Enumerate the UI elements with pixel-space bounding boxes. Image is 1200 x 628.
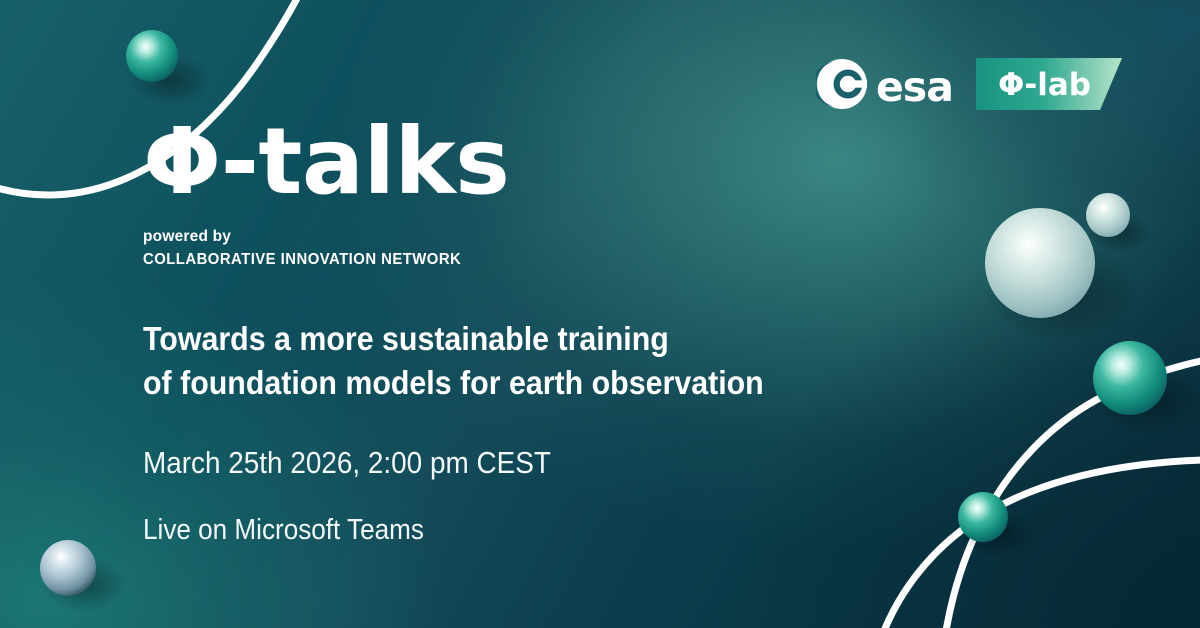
brand-title: Φ-talks xyxy=(143,118,903,206)
sphere-right-mid-green xyxy=(1093,341,1167,415)
philab-label: Φ-lab xyxy=(998,67,1091,103)
arc-bottom-lower xyxy=(866,460,1200,628)
esa-logo[interactable]: esa xyxy=(816,58,952,110)
headline-line-1: Towards a more sustainable training xyxy=(143,317,842,361)
sphere-top-left-green xyxy=(126,30,178,82)
headline-line-2: of foundation models for earth observati… xyxy=(143,361,842,405)
talk-headline: Towards a more sustainable training of f… xyxy=(143,317,842,404)
sphere-bottom-green xyxy=(958,492,1008,542)
event-date: March 25th 2026, 2:00 pm CEST xyxy=(143,446,827,480)
logo-row: esa Φ-lab xyxy=(816,58,1122,110)
sphere-bottom-left-grey xyxy=(40,540,96,596)
sphere-right-large-pale xyxy=(985,208,1095,318)
powered-by-label: powered by xyxy=(143,228,903,246)
philab-badge[interactable]: Φ-lab xyxy=(976,58,1122,110)
esa-wordmark: esa xyxy=(876,63,952,110)
event-banner: esa Φ-lab Φ-talks powered by COLLABORATI… xyxy=(0,0,1200,628)
event-platform: Live on Microsoft Teams xyxy=(143,515,827,547)
content-block: Φ-talks powered by COLLABORATIVE INNOVAT… xyxy=(143,118,903,546)
sphere-right-small-pale xyxy=(1086,193,1130,237)
esa-globe-e-icon xyxy=(816,59,867,109)
network-name: COLLABORATIVE INNOVATION NETWORK xyxy=(143,251,850,269)
